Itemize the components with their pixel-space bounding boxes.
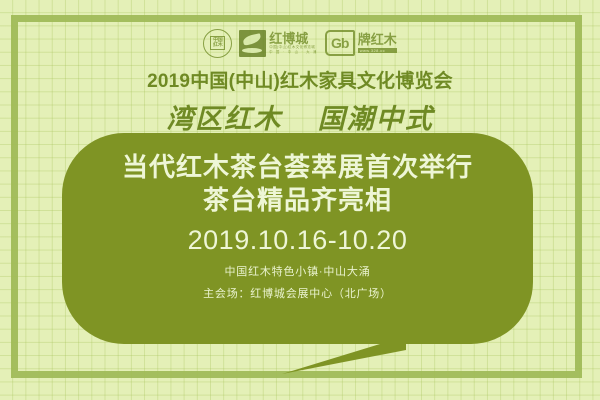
pinpai-mark-icon: Gb	[325, 30, 355, 56]
poster-header: 中国 红木 红博城 中国(中山)红木文化博览城 中 国 · 中 山 · 大 涌 …	[0, 28, 600, 136]
hongbocheng-mark-icon	[239, 30, 266, 57]
seal-logo-icon: 中国 红木	[203, 29, 232, 58]
seal-logo-line2: 红木	[213, 43, 222, 48]
event-date: 2019.10.16-10.20	[188, 225, 408, 256]
slogan-left: 湾区红木	[166, 104, 282, 134]
slogan-right: 国潮中式	[318, 104, 434, 134]
hongbocheng-logo: 红博城 中国(中山)红木文化博览城 中 国 · 中 山 · 大 涌	[239, 30, 317, 57]
pinpai-name: 牌红木	[358, 33, 397, 46]
pinpai-hongmu-logo: Gb 牌红木 www.328.cc	[325, 30, 397, 56]
headline-line-1: 当代红木茶台荟萃展首次举行	[122, 151, 473, 184]
expo-name: 2019中国(中山)红木家具文化博览会	[0, 66, 600, 93]
speech-bubble: 当代红木茶台荟萃展首次举行 茶台精品齐亮相 2019.10.16-10.20 中…	[62, 133, 533, 344]
pinpai-wordmark: 牌红木 www.328.cc	[358, 33, 397, 53]
event-location: 中国红木特色小镇·中山大涌	[224, 263, 370, 279]
expo-slogan: 湾区红木 国潮中式	[0, 97, 600, 136]
logo-strip: 中国 红木 红博城 中国(中山)红木文化博览城 中 国 · 中 山 · 大 涌 …	[0, 28, 600, 58]
hongbocheng-wordmark: 红博城 中国(中山)红木文化博览城 中 国 · 中 山 · 大 涌	[269, 32, 317, 54]
hongbocheng-subtitle2: 中 国 · 中 山 · 大 涌	[269, 51, 317, 54]
hongbocheng-name: 红博城	[269, 32, 317, 45]
speech-bubble-content: 当代红木茶台荟萃展首次举行 茶台精品齐亮相 2019.10.16-10.20 中…	[62, 133, 533, 344]
pinpai-url: www.328.cc	[358, 48, 397, 53]
event-venue: 主会场：红博城会展中心（北广场）	[203, 285, 392, 301]
poster-canvas: 中国 红木 红博城 中国(中山)红木文化博览城 中 国 · 中 山 · 大 涌 …	[0, 0, 600, 400]
headline-line-2: 茶台精品齐亮相	[203, 184, 392, 217]
